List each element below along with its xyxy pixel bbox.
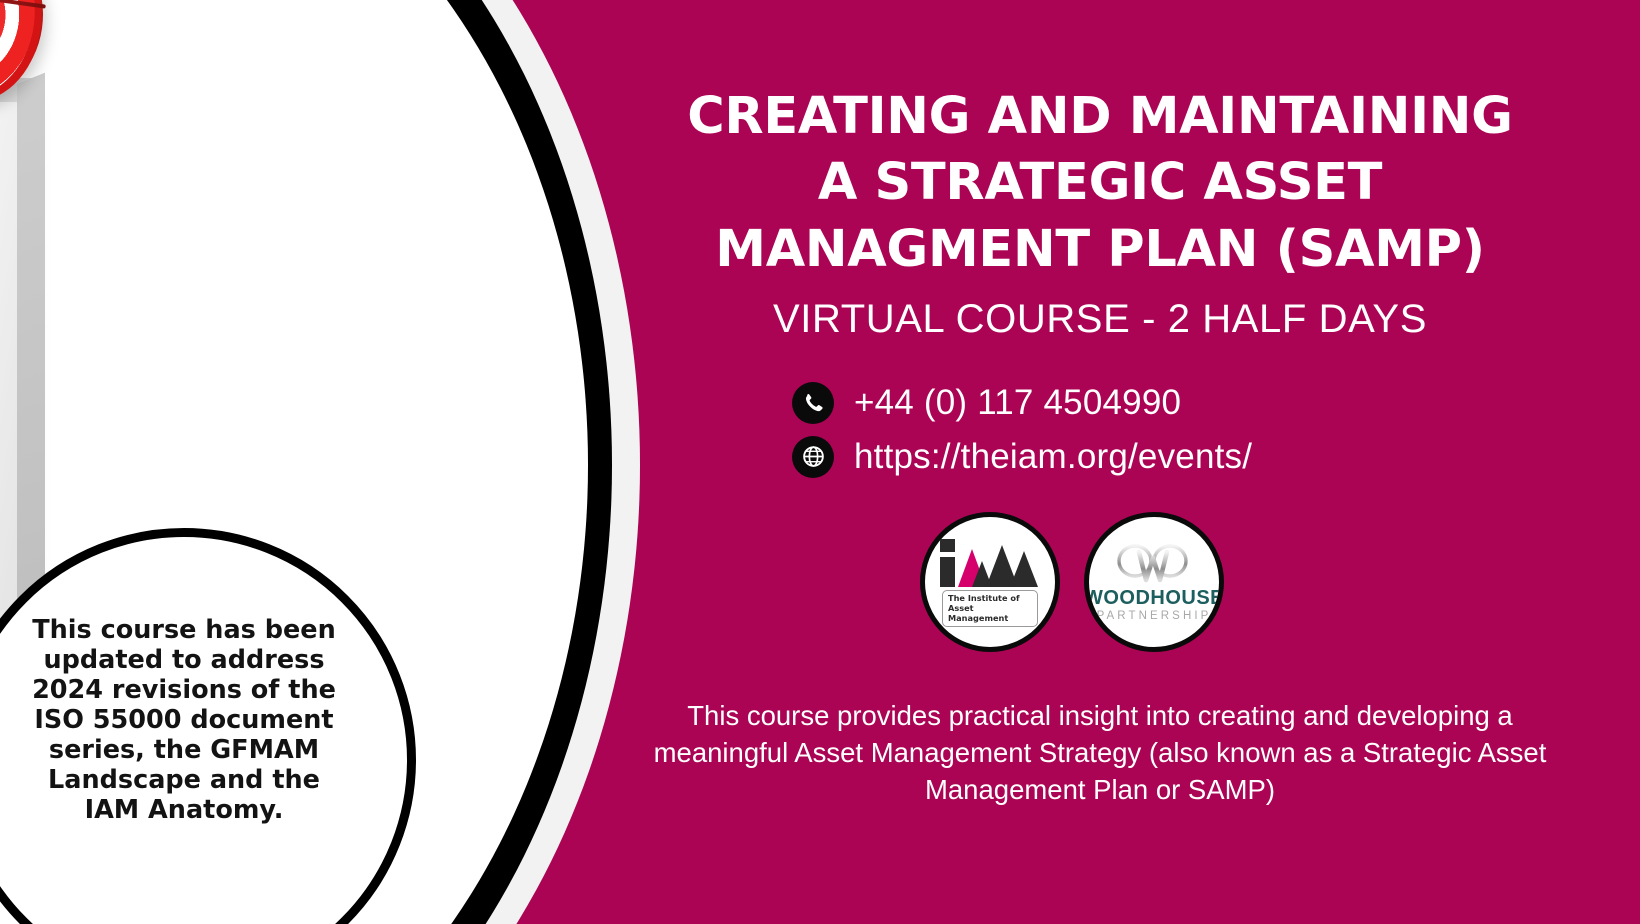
iam-caption: The Institute of Asset Management xyxy=(942,590,1038,628)
callout-line-1: This course has been xyxy=(32,615,335,645)
page-title: CREATING AND MAINTAINING A STRATEGIC ASS… xyxy=(560,0,1640,283)
callout-line-5: series, the GFMAM xyxy=(49,735,319,765)
partner-logos: The Institute of Asset Management xyxy=(560,512,1640,652)
callout-line-4: ISO 55000 document xyxy=(34,705,333,735)
phone-icon xyxy=(792,382,834,424)
subtitle: VIRTUAL COURSE - 2 HALF DAYS xyxy=(560,297,1640,342)
contact-row-website: https://theiam.org/events/ xyxy=(792,436,1252,478)
woodhouse-ribbon-icon xyxy=(1108,542,1200,586)
headline-line-1: CREATING AND MAINTAINING xyxy=(600,84,1600,150)
callout-line-6: Landscape and the xyxy=(48,765,320,795)
contact-list: +44 (0) 117 4504990 https://theiam.org/e… xyxy=(560,382,1640,478)
woodhouse-wordmark: WOODHOUSE xyxy=(1084,588,1224,608)
website-url[interactable]: https://theiam.org/events/ xyxy=(854,437,1252,477)
woodhouse-logo: WOODHOUSE PARTNERSHIP xyxy=(1084,512,1224,652)
woodhouse-mark: WOODHOUSE PARTNERSHIP xyxy=(1092,542,1216,623)
callout-line-2: updated to address xyxy=(43,645,324,675)
phone-number[interactable]: +44 (0) 117 4504990 xyxy=(854,383,1181,423)
course-description: This course provides practical insight i… xyxy=(630,698,1570,809)
iam-mark: The Institute of Asset Management xyxy=(934,537,1046,628)
iam-caption-line-2: Asset Management xyxy=(948,603,1032,624)
iam-logo: The Institute of Asset Management xyxy=(920,512,1060,652)
callout-line-3: 2024 revisions of the xyxy=(32,675,336,705)
right-content-panel: CREATING AND MAINTAINING A STRATEGIC ASS… xyxy=(560,0,1640,924)
iam-caption-line-1: The Institute of xyxy=(948,593,1032,603)
course-promo-banner: This course has been updated to address … xyxy=(0,0,1640,924)
iam-glyph-icon xyxy=(938,537,1042,589)
contact-row-phone: +44 (0) 117 4504990 xyxy=(792,382,1181,424)
headline-line-2: A STRATEGIC ASSET xyxy=(600,150,1600,216)
woodhouse-subtext: PARTNERSHIP xyxy=(1097,611,1212,623)
callout-line-7: IAM Anatomy. xyxy=(85,795,284,825)
headline-line-3: MANAGMENT PLAN (SAMP) xyxy=(600,217,1600,283)
globe-icon xyxy=(792,436,834,478)
callout-text-block: This course has been updated to address … xyxy=(19,615,349,826)
